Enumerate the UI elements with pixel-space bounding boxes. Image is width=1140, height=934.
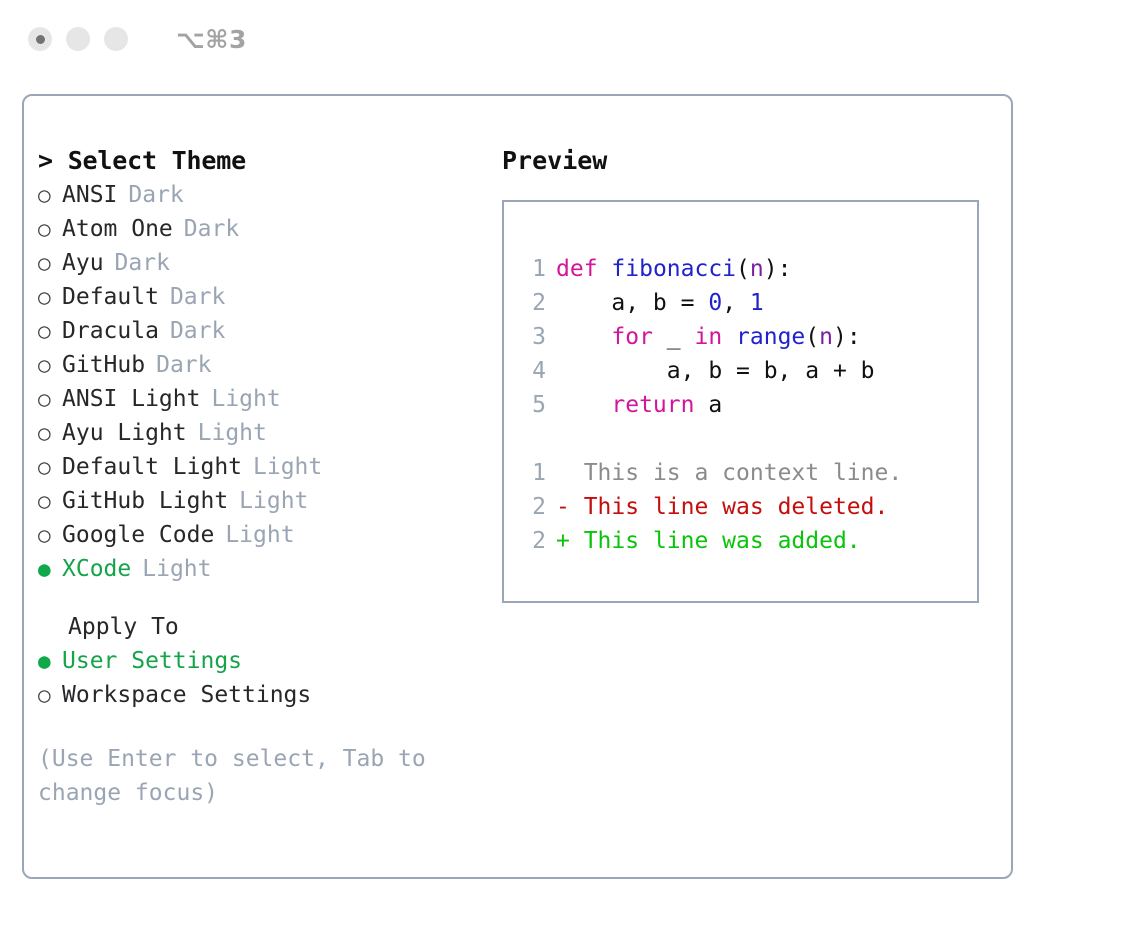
diff-line-ctx: 1 This is a context line. — [524, 456, 971, 490]
code-token-num: 1 — [750, 290, 764, 316]
code-token-pl: a, b = b, a + b — [556, 358, 875, 384]
code-token-pl: ): — [764, 256, 792, 282]
apply-to-option-user-settings[interactable]: ●User Settings — [38, 644, 478, 678]
active-indicator-icon — [36, 35, 45, 44]
apply-to-option-label: User Settings — [62, 644, 242, 678]
code-token-pl: a, b = — [556, 290, 708, 316]
code-token-pl — [556, 392, 611, 418]
diff-line-number: 2 — [524, 490, 546, 524]
radio-unselected-icon: ○ — [38, 450, 62, 484]
theme-option-label: ANSI — [62, 178, 117, 212]
code-line-number: 4 — [524, 354, 546, 388]
spacer — [38, 586, 478, 610]
radio-unselected-icon: ○ — [38, 416, 62, 450]
code-line: 4 a, b = b, a + b — [524, 354, 971, 388]
code-token-pl: ( — [805, 324, 819, 350]
code-token-var: n — [750, 256, 764, 282]
code-token-kw: in — [694, 324, 722, 350]
theme-option-label: Ayu Light — [62, 416, 187, 450]
code-token-pl: ( — [736, 256, 750, 282]
theme-option-label: Default — [62, 280, 159, 314]
code-token-kw: for — [611, 324, 653, 350]
theme-variant-badge: Light — [142, 552, 211, 586]
apply-to-option-list: ●User Settings○Workspace Settings — [38, 644, 478, 712]
theme-variant-badge: Dark — [170, 280, 225, 314]
code-token-pl: _ — [653, 324, 695, 350]
code-preview-area: 1def fibonacci(n):2 a, b = 0, 13 for _ i… — [524, 252, 971, 558]
radio-unselected-icon: ○ — [38, 348, 62, 382]
diff-marker-add: + — [556, 528, 570, 554]
apply-to-option-label: Workspace Settings — [62, 678, 311, 712]
theme-option-label: XCode — [62, 552, 131, 586]
syntax-sample-lines: 1def fibonacci(n):2 a, b = 0, 13 for _ i… — [524, 252, 971, 422]
code-line: 2 a, b = 0, 1 — [524, 286, 971, 320]
prompt-caret-icon: > — [38, 146, 68, 175]
apply-to-option-workspace-settings[interactable]: ○Workspace Settings — [38, 678, 478, 712]
code-token-kw: return — [611, 392, 694, 418]
radio-unselected-icon: ○ — [38, 484, 62, 518]
theme-variant-badge: Light — [211, 382, 280, 416]
theme-option-atom-one[interactable]: ○Atom OneDark — [38, 212, 478, 246]
diff-line-text: This line was added. — [570, 528, 861, 554]
preview-heading: Preview — [502, 144, 1002, 178]
radio-selected-icon: ● — [38, 552, 62, 586]
spacer — [38, 712, 478, 742]
code-token-pl: ): — [833, 324, 861, 350]
diff-marker-ctx — [556, 460, 570, 486]
theme-variant-badge: Dark — [115, 246, 170, 280]
theme-variant-badge: Light — [225, 518, 294, 552]
keyboard-shortcut-label: ⌥⌘3 — [176, 25, 247, 54]
code-token-var: n — [819, 324, 833, 350]
diff-line-text: This is a context line. — [570, 460, 902, 486]
radio-unselected-icon: ○ — [38, 246, 62, 280]
window-close-dot[interactable] — [28, 27, 52, 51]
theme-option-google-code[interactable]: ○Google CodeLight — [38, 518, 478, 552]
theme-option-github-light[interactable]: ○GitHub LightLight — [38, 484, 478, 518]
theme-variant-badge: Dark — [156, 348, 211, 382]
code-line-number: 3 — [524, 320, 546, 354]
code-line: 1def fibonacci(n): — [524, 252, 971, 286]
theme-option-label: GitHub Light — [62, 484, 228, 518]
window-minimize-dot[interactable] — [66, 27, 90, 51]
theme-variant-badge: Light — [198, 416, 267, 450]
theme-variant-badge: Light — [239, 484, 308, 518]
radio-unselected-icon: ○ — [38, 678, 62, 712]
theme-selector-column: > Select Theme ○ANSIDark○Atom OneDark○Ay… — [38, 144, 478, 810]
keyboard-hint-text: (Use Enter to select, Tab to change focu… — [38, 742, 458, 810]
radio-unselected-icon: ○ — [38, 314, 62, 348]
diff-line-add: 2+ This line was added. — [524, 524, 971, 558]
code-token-pl — [598, 256, 612, 282]
theme-option-default-light[interactable]: ○Default LightLight — [38, 450, 478, 484]
code-line-number: 1 — [524, 252, 546, 286]
diff-line-text: This line was deleted. — [570, 494, 889, 520]
theme-option-label: ANSI Light — [62, 382, 200, 416]
code-token-fn: fibonacci — [611, 256, 736, 282]
theme-option-label: Ayu — [62, 246, 104, 280]
window-maximize-dot[interactable] — [104, 27, 128, 51]
theme-option-label: Atom One — [62, 212, 173, 246]
code-token-pl — [722, 324, 736, 350]
select-theme-heading-label: Select Theme — [68, 146, 246, 175]
diff-marker-del: - — [556, 494, 570, 520]
theme-option-label: Default Light — [62, 450, 242, 484]
theme-option-ansi[interactable]: ○ANSIDark — [38, 178, 478, 212]
theme-option-xcode[interactable]: ●XCodeLight — [38, 552, 478, 586]
diff-line-number: 1 — [524, 456, 546, 490]
theme-variant-badge: Light — [253, 450, 322, 484]
code-token-pl: a — [694, 392, 722, 418]
diff-sample-lines: 1 This is a context line.2- This line wa… — [524, 456, 971, 558]
radio-selected-icon: ● — [38, 644, 62, 678]
apply-to-heading: Apply To — [38, 610, 478, 644]
code-line-number: 2 — [524, 286, 546, 320]
radio-unselected-icon: ○ — [38, 212, 62, 246]
radio-unselected-icon: ○ — [38, 178, 62, 212]
theme-option-dracula[interactable]: ○DraculaDark — [38, 314, 478, 348]
theme-option-github[interactable]: ○GitHubDark — [38, 348, 478, 382]
diff-line-del: 2- This line was deleted. — [524, 490, 971, 524]
theme-option-default[interactable]: ○DefaultDark — [38, 280, 478, 314]
theme-option-ayu[interactable]: ○AyuDark — [38, 246, 478, 280]
code-token-num: 0 — [708, 290, 722, 316]
theme-option-label: Google Code — [62, 518, 214, 552]
traffic-lights — [28, 27, 128, 51]
radio-unselected-icon: ○ — [38, 518, 62, 552]
theme-option-ayu-light[interactable]: ○Ayu LightLight — [38, 416, 478, 450]
theme-variant-badge: Dark — [184, 212, 239, 246]
diff-line-number: 2 — [524, 524, 546, 558]
code-token-kw: def — [556, 256, 598, 282]
code-line: 5 return a — [524, 388, 971, 422]
theme-variant-badge: Dark — [128, 178, 183, 212]
code-line-number: 5 — [524, 388, 546, 422]
theme-option-label: GitHub — [62, 348, 145, 382]
code-token-fn: range — [736, 324, 805, 350]
main-panel: > Select Theme ○ANSIDark○Atom OneDark○Ay… — [22, 94, 1013, 879]
code-line: 3 for _ in range(n): — [524, 320, 971, 354]
theme-option-label: Dracula — [62, 314, 159, 348]
theme-variant-badge: Dark — [170, 314, 225, 348]
preview-box: 1def fibonacci(n):2 a, b = 0, 13 for _ i… — [502, 200, 979, 603]
code-token-pl — [556, 324, 611, 350]
preview-column: Preview 1def fibonacci(n):2 a, b = 0, 13… — [502, 144, 1002, 603]
radio-unselected-icon: ○ — [38, 382, 62, 416]
code-token-pl: , — [722, 290, 750, 316]
radio-unselected-icon: ○ — [38, 280, 62, 314]
window-titlebar: ⌥⌘3 — [0, 0, 1140, 78]
select-theme-heading: > Select Theme — [38, 144, 478, 178]
spacer — [524, 422, 971, 456]
theme-option-ansi-light[interactable]: ○ANSI LightLight — [38, 382, 478, 416]
theme-option-list: ○ANSIDark○Atom OneDark○AyuDark○DefaultDa… — [38, 178, 478, 586]
